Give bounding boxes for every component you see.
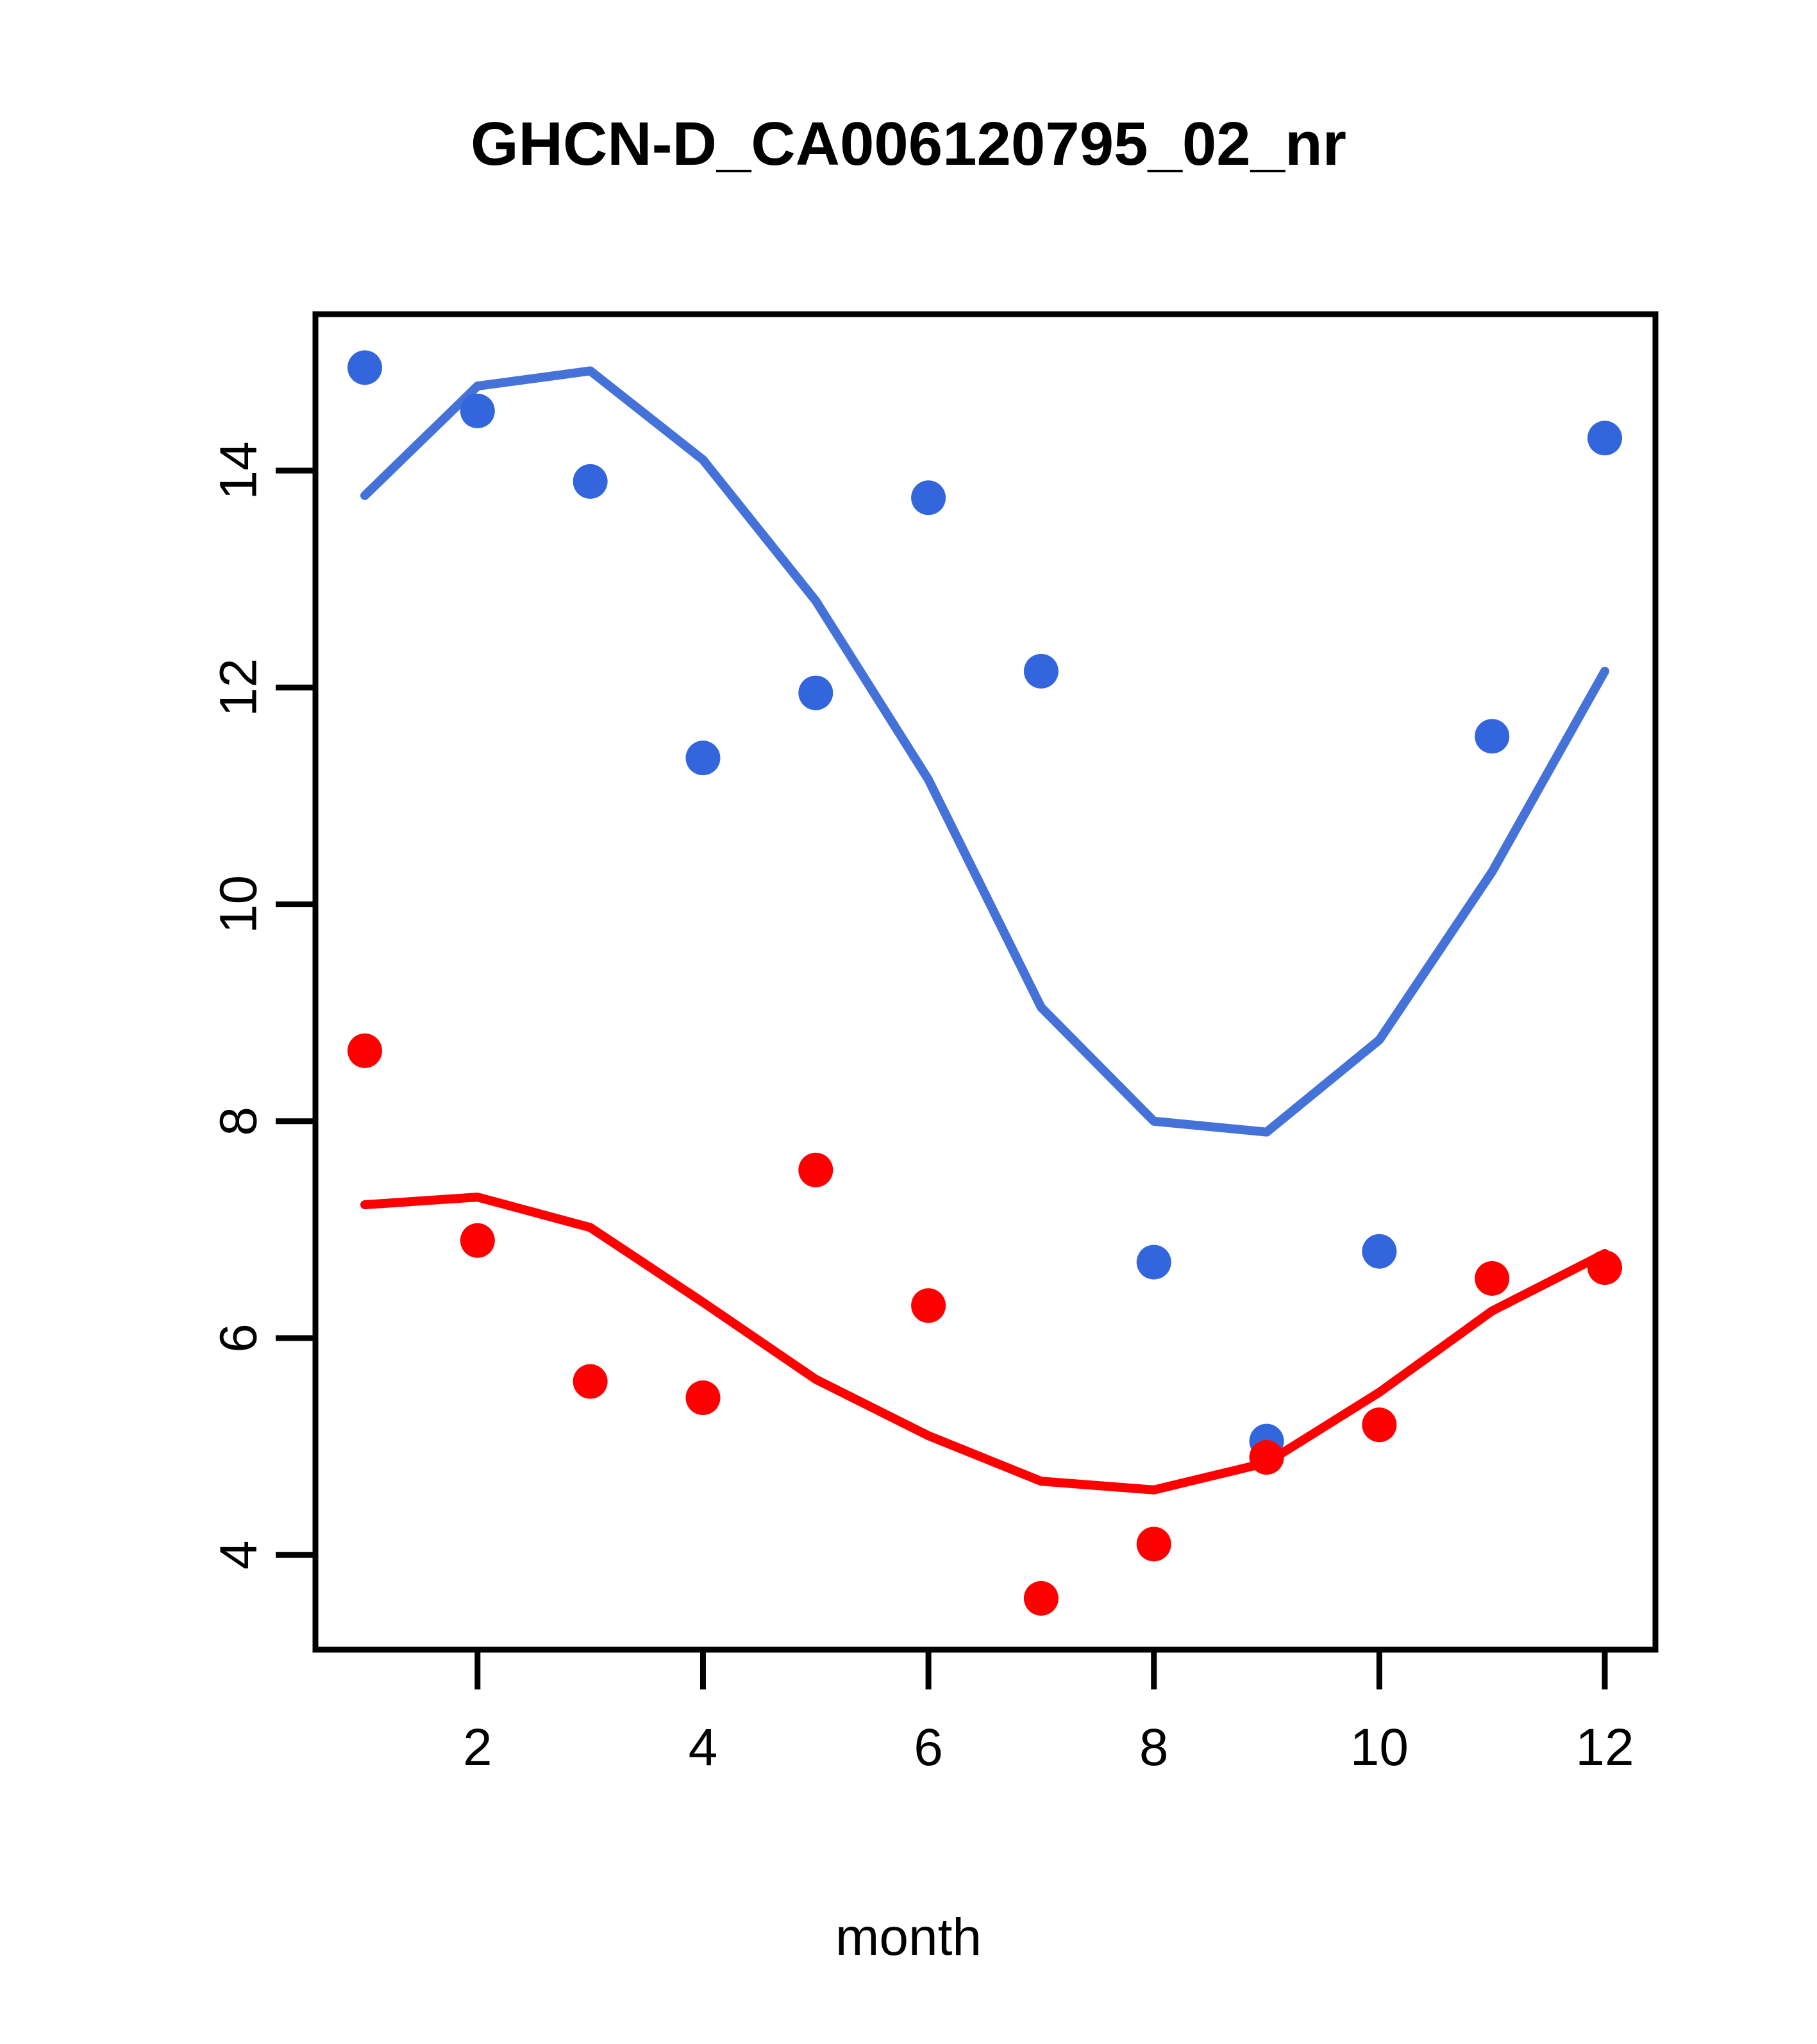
series-line-red-line: [365, 1197, 1605, 1490]
series-points-red-points: [347, 1034, 1622, 1616]
data-point: [1024, 1581, 1059, 1616]
y-axis-tick-label: 10: [210, 875, 268, 934]
chart-figure: GHCN-D_CA006120795_02_nr 468101214 24681…: [0, 0, 1817, 2044]
x-axis-ticks: 24681012: [463, 1650, 1634, 1777]
data-point: [1587, 1250, 1622, 1285]
data-point: [1362, 1234, 1396, 1269]
data-point: [911, 480, 946, 515]
x-axis-tick-label: 6: [914, 1718, 943, 1777]
plot-border: [315, 314, 1655, 1650]
y-axis-tick-label: 8: [210, 1107, 268, 1136]
data-point: [1362, 1407, 1396, 1442]
data-point: [347, 1034, 382, 1068]
data-point: [1475, 1261, 1509, 1296]
series-points-blue-points: [347, 350, 1622, 1458]
x-axis-tick-label: 12: [1575, 1718, 1634, 1777]
series-line-blue-line: [365, 371, 1605, 1132]
plot-area: 468101214 24681012: [0, 0, 1817, 2044]
data-point: [1250, 1440, 1284, 1475]
data-point: [573, 464, 608, 499]
y-axis-tick-label: 6: [210, 1323, 268, 1353]
x-axis-tick-label: 10: [1350, 1718, 1409, 1777]
y-axis-ticks: 468101214: [210, 441, 316, 1570]
data-point: [1137, 1527, 1171, 1561]
data-point: [347, 350, 382, 385]
x-axis-tick-label: 4: [689, 1718, 718, 1777]
y-axis-tick-label: 12: [210, 658, 268, 717]
y-axis-tick-label: 4: [210, 1540, 268, 1570]
data-series-layer: [347, 350, 1622, 1616]
x-axis-tick-label: 8: [1139, 1718, 1169, 1777]
data-point: [911, 1288, 946, 1323]
data-point: [573, 1364, 608, 1399]
y-axis-tick-label: 14: [210, 441, 268, 499]
x-axis-label: month: [0, 1907, 1817, 1968]
data-point: [798, 1153, 833, 1187]
data-point: [685, 741, 720, 775]
data-point: [685, 1380, 720, 1415]
data-point: [1587, 421, 1622, 455]
data-point: [460, 1223, 495, 1258]
data-point: [798, 676, 833, 710]
x-axis-tick-label: 2: [463, 1718, 492, 1777]
data-point: [1137, 1245, 1171, 1280]
data-point: [1024, 654, 1059, 689]
data-point: [460, 394, 495, 428]
data-point: [1475, 719, 1509, 753]
